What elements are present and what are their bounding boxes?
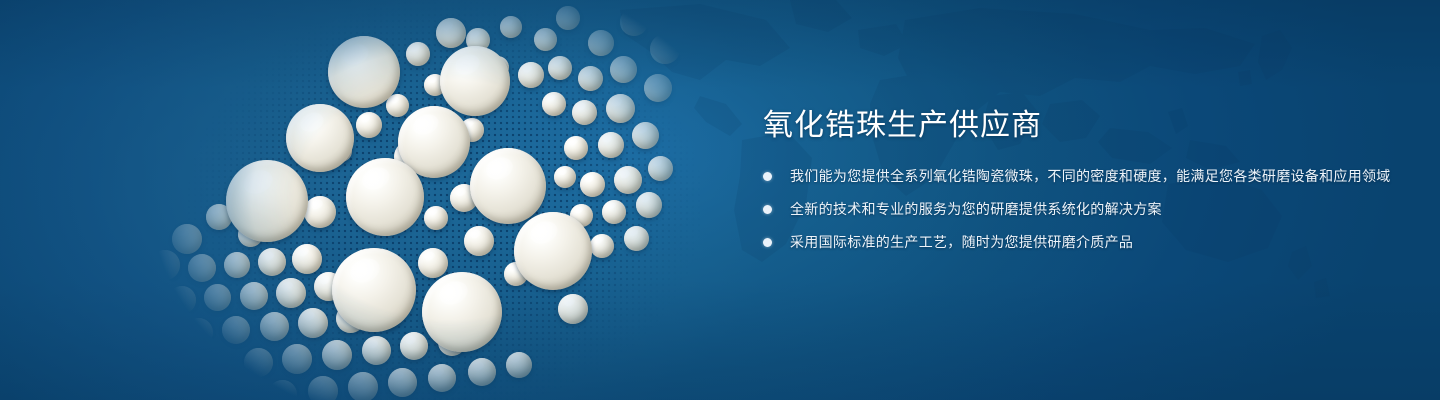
list-item: 采用国际标准的生产工艺，随时为您提供研磨介质产品: [763, 231, 1403, 253]
bullet-dot-icon: [763, 172, 772, 181]
list-item-label: 全新的技术和专业的服务为您的研磨提供系统化的解决方案: [790, 198, 1403, 220]
list-item-label: 我们能为您提供全系列氧化锆陶瓷微珠，不同的密度和硬度，能满足您各类研磨设备和应用…: [790, 165, 1403, 187]
list-item: 我们能为您提供全系列氧化锆陶瓷微珠，不同的密度和硬度，能满足您各类研磨设备和应用…: [763, 165, 1403, 187]
bead-cluster: [150, 0, 730, 400]
zirconia-beads-photo: [150, 0, 730, 400]
bullet-dot-icon: [763, 205, 772, 214]
feature-list: 我们能为您提供全系列氧化锆陶瓷微珠，不同的密度和硬度，能满足您各类研磨设备和应用…: [763, 165, 1403, 253]
list-item-label: 采用国际标准的生产工艺，随时为您提供研磨介质产品: [790, 231, 1403, 253]
list-item: 全新的技术和专业的服务为您的研磨提供系统化的解决方案: [763, 198, 1403, 220]
bullet-dot-icon: [763, 238, 772, 247]
page-title: 氧化锆珠生产供应商: [763, 108, 1403, 143]
hero-banner: 氧化锆珠生产供应商 我们能为您提供全系列氧化锆陶瓷微珠，不同的密度和硬度，能满足…: [0, 0, 1440, 400]
banner-content: 氧化锆珠生产供应商 我们能为您提供全系列氧化锆陶瓷微珠，不同的密度和硬度，能满足…: [763, 108, 1403, 253]
